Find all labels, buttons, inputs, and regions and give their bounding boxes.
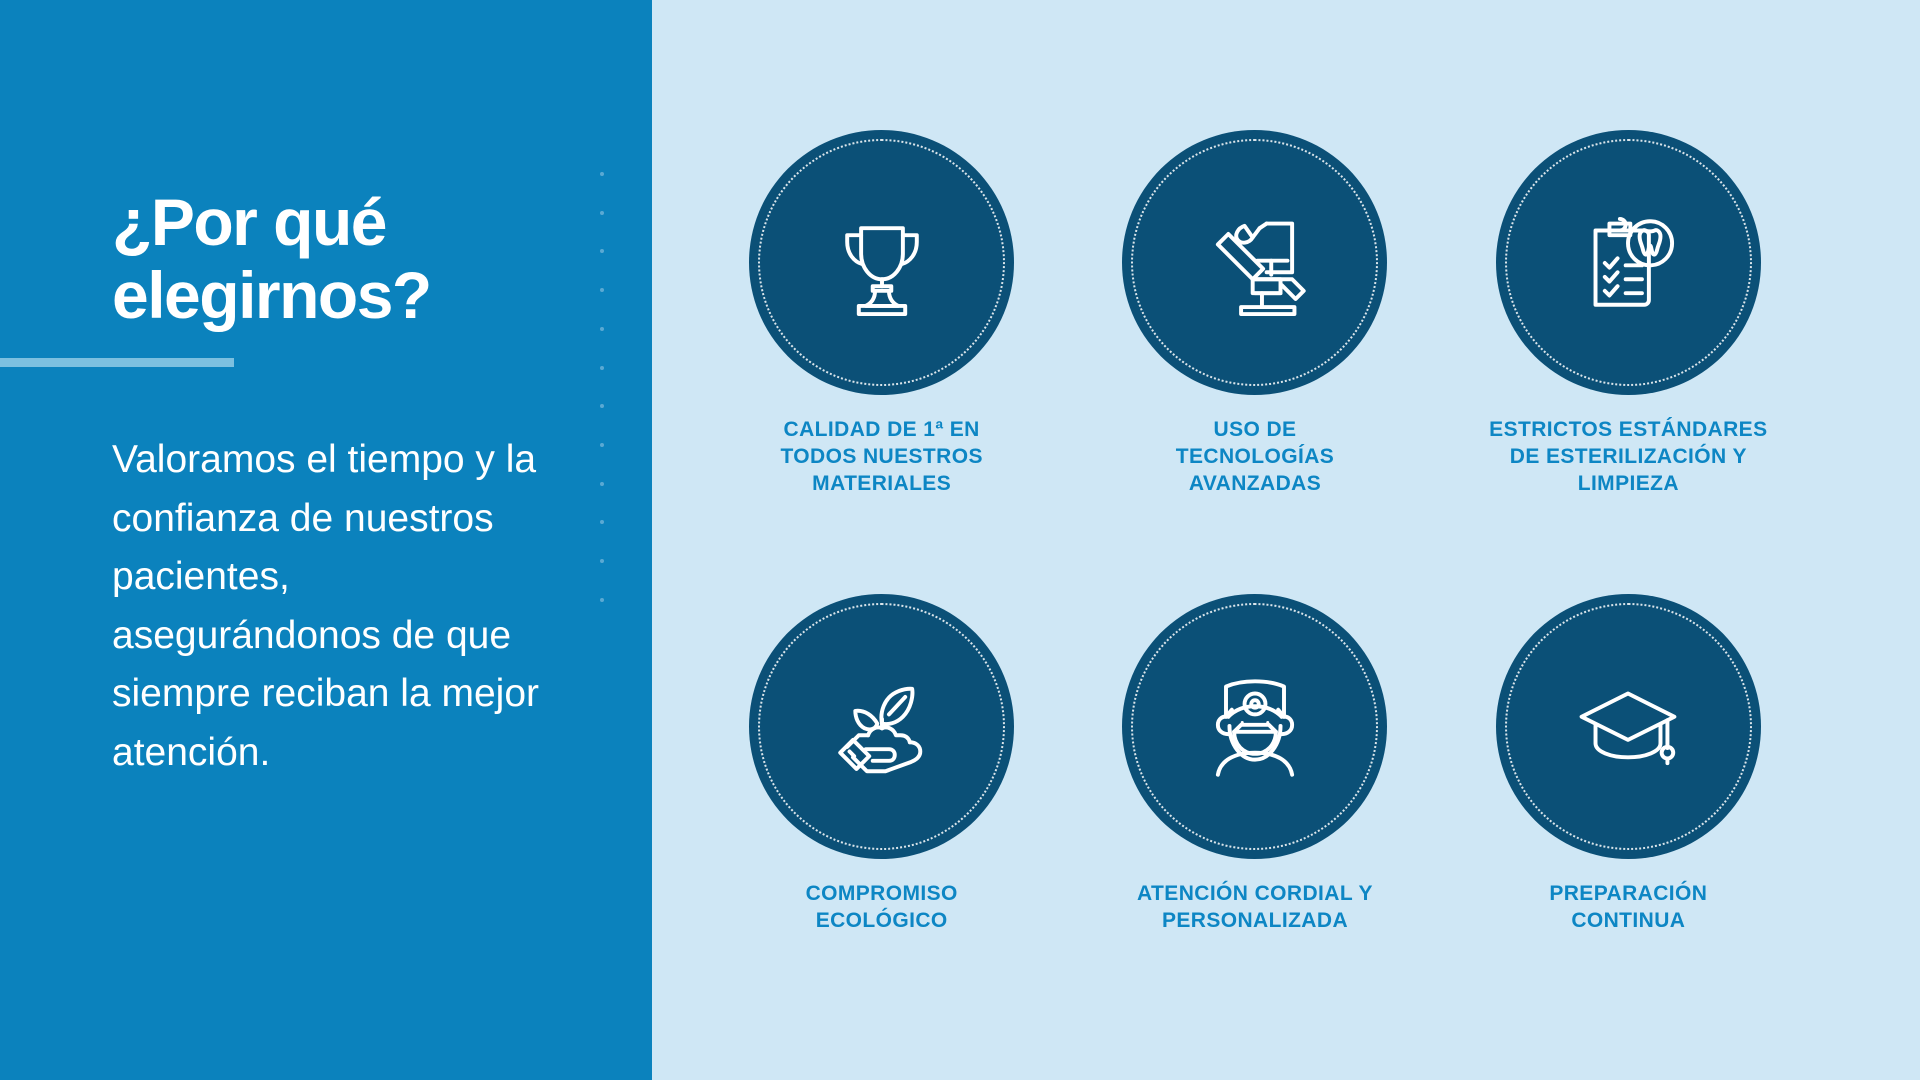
feature-icon-badge	[1496, 594, 1761, 859]
right-panel: CALIDAD DE 1ª EN TODOS NUESTROS MATERIAL…	[652, 0, 1920, 1080]
hand-plant-icon	[824, 668, 940, 784]
dental-chair-icon	[1197, 205, 1313, 321]
feature-label: ESTRICTOS ESTÁNDARES DE ESTERILIZACIÓN Y…	[1489, 417, 1767, 498]
feature-label: PREPARACIÓN CONTINUA	[1549, 881, 1707, 935]
feature-icon-badge	[1122, 130, 1387, 395]
feature-item-technology[interactable]: USO DE TECNOLOGÍAS AVANZADAS	[1083, 130, 1426, 498]
intro-paragraph: Valoramos el tiempo y la confianza de nu…	[112, 431, 552, 782]
feature-item-ecology[interactable]: COMPROMISO ECOLÓGICO	[710, 594, 1053, 935]
feature-item-sterilization[interactable]: ESTRICTOS ESTÁNDARES DE ESTERILIZACIÓN Y…	[1457, 130, 1800, 498]
feature-label: ATENCIÓN CORDIAL Y PERSONALIZADA	[1137, 881, 1373, 935]
feature-item-training[interactable]: PREPARACIÓN CONTINUA	[1457, 594, 1800, 935]
feature-icon-badge	[1496, 130, 1761, 395]
feature-label: COMPROMISO ECOLÓGICO	[806, 881, 958, 935]
feature-icon-badge	[749, 594, 1014, 859]
feature-icon-badge	[1122, 594, 1387, 859]
feature-item-care[interactable]: ATENCIÓN CORDIAL Y PERSONALIZADA	[1083, 594, 1426, 935]
features-grid: CALIDAD DE 1ª EN TODOS NUESTROS MATERIAL…	[710, 130, 1800, 934]
feature-icon-badge	[749, 130, 1014, 395]
feature-label: CALIDAD DE 1ª EN TODOS NUESTROS MATERIAL…	[780, 417, 982, 498]
feature-label: USO DE TECNOLOGÍAS AVANZADAS	[1176, 417, 1334, 498]
dentist-face-icon	[1197, 668, 1313, 784]
title-underline-rule	[0, 358, 234, 367]
feature-item-quality[interactable]: CALIDAD DE 1ª EN TODOS NUESTROS MATERIAL…	[710, 130, 1053, 498]
clipboard-tooth-icon	[1570, 205, 1686, 321]
page-title: ¿Por qué elegirnos?	[112, 186, 592, 331]
trophy-icon	[824, 205, 940, 321]
left-panel: ¿Por qué elegirnos? Valoramos el tiempo …	[0, 0, 652, 1080]
dotted-divider	[600, 172, 604, 602]
infographic-slide: ¿Por qué elegirnos? Valoramos el tiempo …	[0, 0, 1920, 1080]
graduation-cap-icon	[1570, 668, 1686, 784]
